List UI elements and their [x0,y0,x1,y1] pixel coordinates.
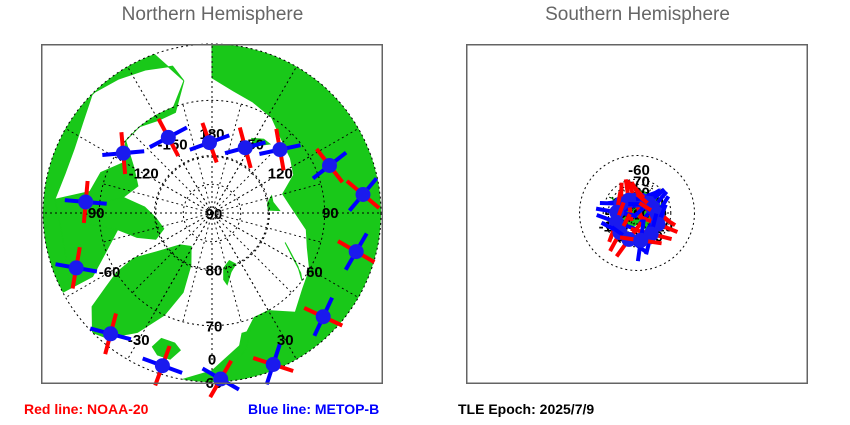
northern-hemisphere-panel: Northern Hemisphere 90807060030609012015… [0,0,425,425]
pole-label: 90 [206,206,223,223]
lon-label: 0 [208,351,216,368]
satellite-marker [356,187,371,202]
lon-label: 120 [268,166,293,183]
lon-label: -120 [129,166,159,183]
satellite-marker [633,233,648,248]
northern-polar-plot: 908070600306090120150180-150-120-90-60-3… [0,0,425,425]
satellite-marker [213,372,228,387]
lon-label: -30 [128,332,150,349]
lon-label: 60 [306,264,323,281]
lat-ring-label: -60 [628,162,650,179]
satellite-marker [69,260,84,275]
southern-hemisphere-panel: Southern Hemisphere -90-80-70-6003060901… [425,0,850,425]
southern-polar-plot: -90-80-70-600306090120150180-150-120-90-… [425,0,850,425]
satellite-marker [349,244,364,259]
satellite-marker [322,158,337,173]
northern-panel-title: Northern Hemisphere [0,4,425,26]
satellite-marker [266,357,281,372]
legend-red-line: Red line: NOAA-20 [24,401,148,417]
satellite-coverage-page: Northern Hemisphere 90807060030609012015… [0,0,850,425]
satellite-marker [116,146,131,161]
satellite-marker [273,142,288,157]
satellite-marker [103,326,118,341]
satellite-marker [78,195,93,210]
legend-tle-epoch: TLE Epoch: 2025/7/9 [458,401,594,417]
satellite-marker [155,358,170,373]
lon-label: 90 [322,205,339,222]
satellite-marker [238,140,253,155]
lon-label: -60 [99,264,121,281]
satellite-marker [161,130,176,145]
lat-ring-label: 80 [206,262,223,279]
legend-blue-line: Blue line: METOP-B [248,401,379,417]
satellite-marker [316,309,331,324]
lat-ring-label: 70 [206,319,223,336]
southern-panel-title: Southern Hemisphere [425,4,850,26]
satellite-marker [202,135,217,150]
